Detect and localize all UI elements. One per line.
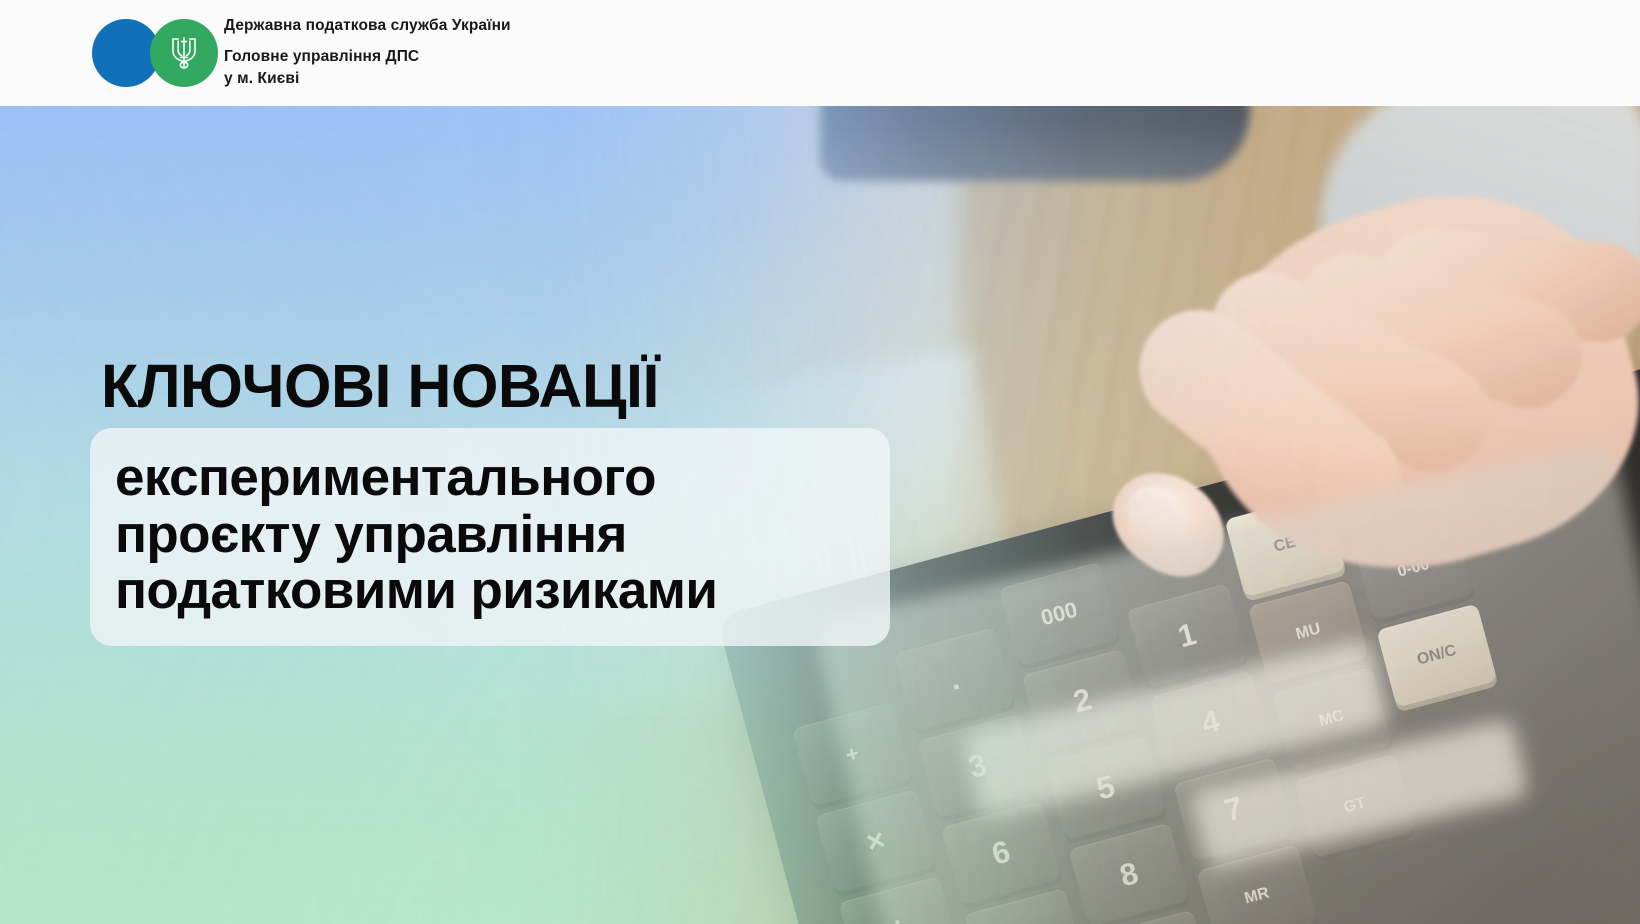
hero-banner: + × ÷ % √ . 3 6 9 M+ 000 2 5 8 M– 1 4 <box>0 106 1640 924</box>
hero-title-line-2: проєкту управління <box>102 507 864 564</box>
hero-title-card: експериментального проєкту управління по… <box>90 428 890 646</box>
dept-line-2: у м. Києві <box>224 68 511 90</box>
hero-kicker: КЛЮЧОВІ НОВАЦІЇ <box>101 356 659 417</box>
trident-icon <box>169 34 199 72</box>
brand-text: Державна податкова служба України Головн… <box>224 16 511 90</box>
hero-title-line-1: експериментального <box>102 450 864 507</box>
brand-block[interactable]: Державна податкова служба України Головн… <box>92 16 511 90</box>
green-circle-icon <box>150 19 218 87</box>
dps-logo[interactable] <box>92 19 232 87</box>
site-header: Державна податкова служба України Головн… <box>0 0 1640 106</box>
org-name: Державна податкова служба України <box>224 16 511 37</box>
page-root: Державна податкова служба України Головн… <box>0 0 1640 924</box>
hero-title-line-3: податковими ризиками <box>102 563 864 620</box>
dept-line-1: Головне управління ДПС <box>224 46 511 68</box>
hero-copy: КЛЮЧОВІ НОВАЦІЇ експериментального проєк… <box>0 106 1640 924</box>
